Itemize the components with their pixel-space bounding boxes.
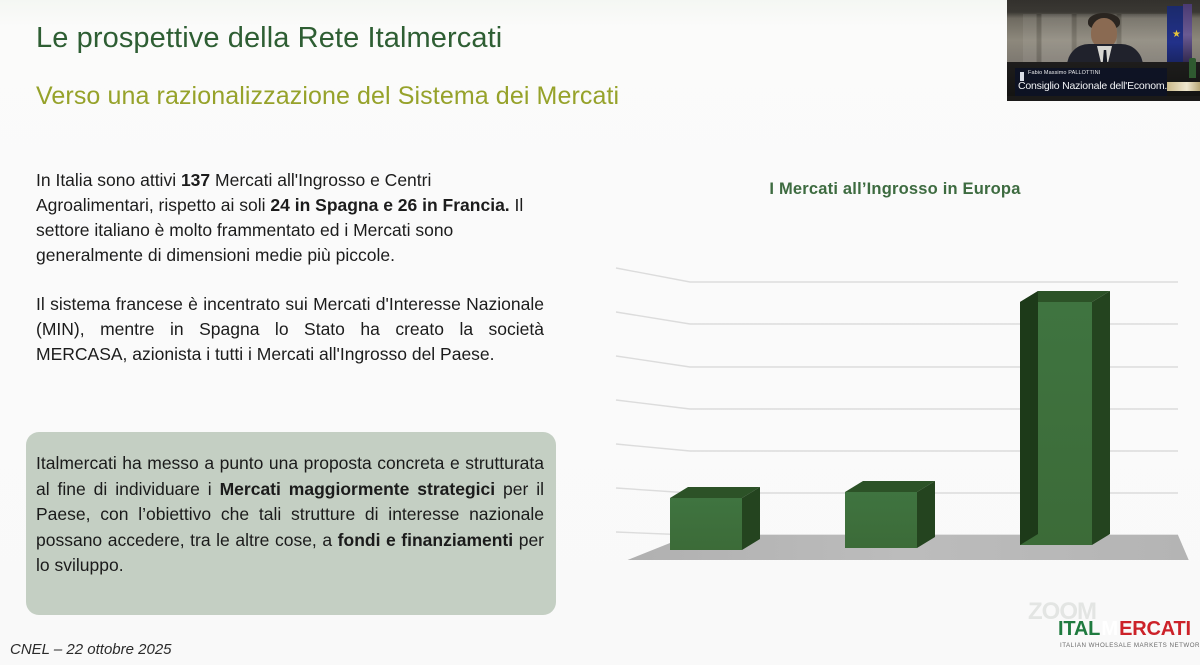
p1-bold-137: 137 xyxy=(181,170,210,190)
slide-canvas: Le prospettive della Rete Italmercati Ve… xyxy=(0,0,1200,665)
p1-seg1: In Italia sono attivi xyxy=(36,170,181,190)
logo-wordmark: ITALMERCATI xyxy=(1058,618,1191,641)
logo-part-ercati: ERCATI xyxy=(1119,618,1191,640)
video-overlay[interactable]: ★ Fabio Massimo PALLOTTINI Consiglio Naz… xyxy=(1007,0,1200,101)
logo-tagline: ITALIAN WHOLESALE MARKETS NETWORK xyxy=(1060,642,1200,649)
logo-apple-icon: M xyxy=(1100,618,1119,641)
video-bottom-bar xyxy=(1007,96,1200,101)
italmercati-logo: ZOOM ITALMERCATI ITALIAN WHOLESALE MARKE… xyxy=(1058,612,1194,658)
water-bottle xyxy=(1189,58,1196,78)
secondary-flag xyxy=(1183,4,1192,66)
bar-chart-3d: SPAGNA FRANCIA ITALIA xyxy=(600,160,1190,560)
bar-spagna xyxy=(670,487,760,550)
eu-flag-star-icon: ★ xyxy=(1172,30,1181,40)
bar-francia xyxy=(845,481,935,548)
speaker-organization: Consiglio Nazionale dell'Econom... xyxy=(1018,80,1173,92)
page-title: Le prospettive della Rete Italmercati xyxy=(36,22,502,55)
page-subtitle: Verso una razionalizzazione del Sistema … xyxy=(36,82,619,111)
video-side-strip xyxy=(1167,82,1200,91)
hl-bold-fondi: fondi e finanziamenti xyxy=(338,530,513,550)
paragraph-2: Il sistema francese è incentrato sui Mer… xyxy=(36,292,544,367)
hl-bold-mercati-strategici: Mercati maggiormente strategici xyxy=(220,479,496,499)
footer-date: CNEL – 22 ottobre 2025 xyxy=(10,641,172,658)
speaker-name: Fabio Massimo PALLOTTINI xyxy=(1028,70,1100,76)
body-text-column: In Italia sono attivi 137 Mercati all'In… xyxy=(36,168,544,391)
paragraph-1: In Italia sono attivi 137 Mercati all'In… xyxy=(36,168,544,268)
chart-container: I Mercati all’Ingrosso in Europa xyxy=(600,160,1190,560)
highlight-text: Italmercati ha messo a punto una propost… xyxy=(36,451,544,579)
bar-italia xyxy=(1020,291,1110,545)
logo-part-ital: ITAL xyxy=(1058,618,1100,640)
p1-bold-countries: 24 in Spagna e 26 in Francia. xyxy=(270,195,509,215)
